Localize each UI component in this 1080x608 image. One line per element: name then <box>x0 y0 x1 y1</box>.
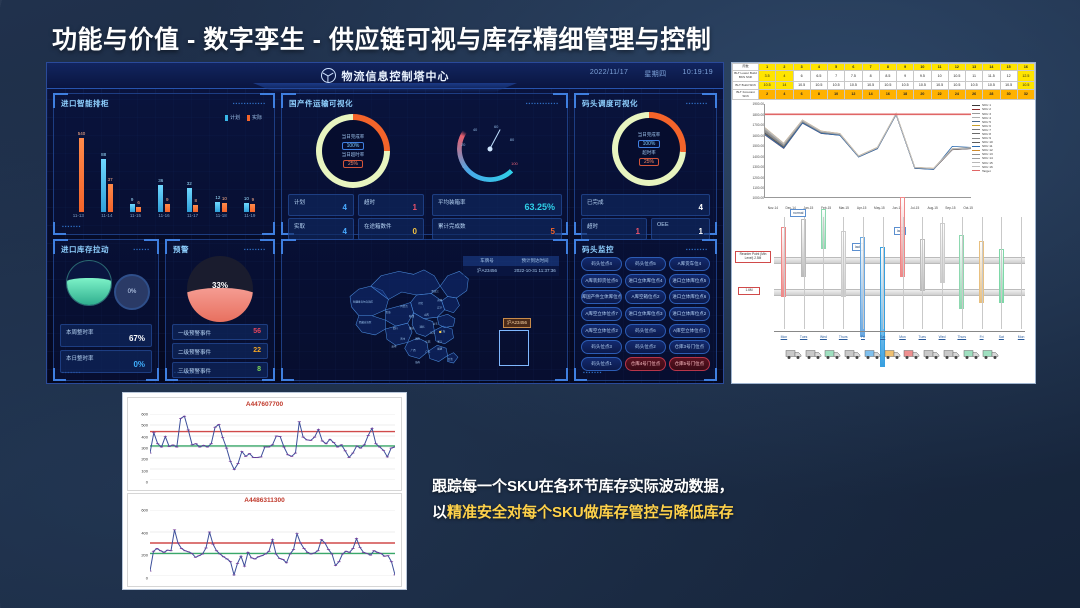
data-point <box>162 552 165 553</box>
table-row[interactable]: BLT Lower Build BKS Shift3.5466.577.588.… <box>733 71 1035 82</box>
sku-chart-title: A447607700 <box>128 398 401 408</box>
table-cell[interactable]: 11 <box>966 71 983 82</box>
kpi-dock-overtime[interactable]: 超时 1 <box>581 218 647 240</box>
panel-domestic-transport[interactable]: 国产件运输可视化 ▪▪▪▪▪▪▪▪▪▪▪▪ 当日完成率 100% 当日超时率 2… <box>281 93 568 235</box>
panel-title: 进口库存拉动 <box>61 244 109 255</box>
data-point <box>239 556 242 557</box>
panel-dock-monitor[interactable]: 码头监控 ▪▪▪▪▪▪▪▪ ▪▪▪▪▪▪▪ 码头位点4码头位点5A库货车位4A库… <box>574 239 717 381</box>
data-point <box>225 558 228 559</box>
alarm-pie-value: 33% <box>187 281 253 290</box>
data-point <box>194 557 197 558</box>
table-cell[interactable]: 6 <box>793 89 810 100</box>
table-cell[interactable]: 28 <box>983 89 1000 100</box>
row-header: BLT Build Shift <box>733 82 759 89</box>
legend-swatch <box>972 150 980 151</box>
data-point <box>278 436 281 437</box>
table-cell[interactable]: 6.5 <box>810 71 827 82</box>
data-point <box>285 562 288 563</box>
china-map-graphic: 新疆维吾尔自治区 西藏自治区 青海 内蒙古 河北 黑龙江 吉林 辽宁 陕西 山西 <box>326 261 495 372</box>
dock-button[interactable]: 进口立体库位点6 <box>669 290 710 304</box>
table-cell[interactable]: 8.5 <box>879 71 896 82</box>
map-zoom-box[interactable] <box>499 330 529 366</box>
table-cell[interactable]: 8 <box>862 71 879 82</box>
x-tick: Mar-15 <box>839 206 849 210</box>
sku-chart-1[interactable]: A447607700 6005004003002001000 <box>127 397 402 491</box>
svg-text:黑龙江: 黑龙江 <box>432 289 440 293</box>
data-point <box>278 558 281 559</box>
data-point <box>204 547 207 548</box>
data-point <box>180 548 183 549</box>
table-cell[interactable]: 16 <box>1017 64 1034 71</box>
y-tick: 1000.00 <box>734 196 764 200</box>
completion-ring-gauge: 当日完成率 100% 当日超时率 25% <box>316 114 390 188</box>
row-header: BLT Forecast Shift <box>733 89 759 100</box>
kpi-value: 1 <box>413 203 417 212</box>
stat-avg-loading-rate[interactable]: 平均装箱率 63.25% <box>432 194 562 216</box>
data-point <box>166 550 169 551</box>
table-cell[interactable]: 10.5 <box>948 71 965 82</box>
dock-button[interactable]: A库空立体位点7 <box>581 307 622 321</box>
table-cell[interactable]: 10.5 <box>983 82 1000 89</box>
dock-button[interactable]: 进口立体库位点5 <box>669 274 710 288</box>
day-label: Mon <box>781 335 788 339</box>
dock-button[interactable]: 码头位点5 <box>625 257 666 271</box>
data-point <box>374 443 377 444</box>
table-cell[interactable]: 4 <box>776 71 793 82</box>
x-tick: 11-13 <box>64 213 93 222</box>
table-cell[interactable]: 10.5 <box>810 82 827 89</box>
kpi-overtime[interactable]: 超时 1 <box>358 194 424 216</box>
panel-title: 进口智能排柜 <box>61 98 109 109</box>
table-cell[interactable]: 13 <box>966 64 983 71</box>
y-tick: 1800.00 <box>734 113 764 117</box>
table-row[interactable]: 沪A23456 2022-10-31 11:37:36 <box>463 266 559 276</box>
table-cell[interactable]: 11 <box>931 64 948 71</box>
legend-swatch <box>972 146 980 147</box>
data-point <box>321 440 324 441</box>
liquid-fill-gauge <box>66 260 112 306</box>
data-point <box>295 533 298 534</box>
caption-highlight: 精准安全对每个SKU做库存管控与降低库存 <box>447 504 734 521</box>
svg-text:浙江: 浙江 <box>437 339 443 343</box>
sku-line-series <box>150 416 395 469</box>
panel-title: 预警 <box>173 244 189 255</box>
line-series <box>765 114 971 169</box>
svg-text:海南: 海南 <box>415 360 421 364</box>
y-tick: 1200.00 <box>734 176 764 180</box>
data-point <box>169 550 172 551</box>
data-point <box>301 437 304 438</box>
dock-button[interactable]: A库装卸货位点6 <box>581 274 622 288</box>
table-cell[interactable]: 4 <box>810 64 827 71</box>
data-point <box>327 549 330 550</box>
data-point <box>355 445 358 446</box>
data-point <box>176 543 179 544</box>
data-point <box>363 444 366 445</box>
data-point <box>355 538 358 539</box>
table-cell[interactable]: 10.5 <box>1017 82 1034 89</box>
data-point <box>299 543 302 544</box>
dock-button[interactable]: A库空立体位点2 <box>581 324 622 338</box>
data-point <box>156 443 159 444</box>
kpi-label: 在途箱数件 <box>364 222 392 230</box>
data-point <box>255 457 258 458</box>
dock-button[interactable]: 仓库4号门位点 <box>625 357 666 371</box>
svg-text:广东: 广东 <box>426 349 432 353</box>
table-row[interactable]: 周数12345678910111213141516 <box>733 64 1035 71</box>
sku-chart-title: A4486311300 <box>128 494 401 504</box>
data-point <box>337 561 340 562</box>
y-tick: 600 <box>128 508 148 513</box>
data-point <box>302 548 305 549</box>
data-point <box>372 550 375 551</box>
table-cell[interactable]: 30 <box>1000 89 1017 100</box>
kpi-plan[interactable]: 计划 4 <box>288 194 354 216</box>
data-point <box>267 447 270 448</box>
data-point <box>198 447 201 448</box>
table-cell[interactable]: 7 <box>828 71 845 82</box>
svg-text:湖北: 湖北 <box>420 324 426 328</box>
table-cell[interactable]: 22 <box>931 89 948 100</box>
table-cell[interactable]: 14 <box>776 82 793 89</box>
data-point <box>382 450 385 451</box>
alarm-item-level1[interactable]: 一级预警事件 56 <box>172 324 268 340</box>
y-tick: 400 <box>128 434 148 439</box>
alarm-item-level2[interactable]: 二级预警事件 22 <box>172 343 268 359</box>
data-point <box>378 447 381 448</box>
table-cell[interactable]: 10.5 <box>845 82 862 89</box>
data-point <box>233 469 236 470</box>
sku-chart-2[interactable]: A4486311300 6004002000 <box>127 493 402 587</box>
speedometer-gauge: 0 20 40 60 80 100 <box>457 116 523 182</box>
alarm-label: 一级预警事件 <box>178 329 211 337</box>
data-point <box>348 552 351 553</box>
svg-text:江西: 江西 <box>426 339 432 343</box>
x-tick: May-15 <box>874 206 885 210</box>
data-point <box>328 439 331 440</box>
day-label: Thurs <box>957 335 966 339</box>
data-point <box>152 551 155 552</box>
stat-cumulative-count[interactable]: 累计完成数 5 <box>432 218 562 240</box>
data-point <box>358 547 361 548</box>
table-cell[interactable]: 9 <box>897 71 914 82</box>
y-tick: 200 <box>128 457 148 462</box>
data-point <box>274 554 277 555</box>
panel-deco-dots: ▪▪▪▪▪▪ <box>133 247 150 253</box>
map-vehicle-tag: 沪A23456 <box>503 318 531 328</box>
data-point <box>155 548 158 549</box>
dashboard-title: 物流信息控制塔中心 <box>342 68 450 84</box>
legend-actual: 实际 <box>252 114 262 121</box>
table-cell[interactable]: 10 <box>914 64 931 71</box>
table-row[interactable]: BLT Build Shift10.51410.510.510.510.510.… <box>733 82 1035 89</box>
data-point <box>218 554 221 555</box>
line-series <box>765 115 971 170</box>
table-cell[interactable]: 10.5 <box>948 82 965 89</box>
data-point <box>386 555 389 556</box>
svg-text:青海: 青海 <box>386 309 392 313</box>
svg-text:重庆: 重庆 <box>409 326 415 330</box>
svg-text:云南: 云南 <box>392 343 398 347</box>
stat-label: 累计完成数 <box>438 222 466 230</box>
data-point <box>243 566 246 567</box>
dock-button[interactable]: A库货车位4 <box>669 257 710 271</box>
panel-alarm[interactable]: 预警 ▪▪▪▪▪▪▪▪ ▪▪▪▪▪▪▪ 33% 一级预警事件 56 二级预警事件… <box>165 239 275 381</box>
table-cell[interactable]: 24 <box>948 89 965 100</box>
bar-chart-legend: 计划 实际 <box>225 114 262 121</box>
data-point <box>187 429 190 430</box>
truck-icon <box>943 347 960 361</box>
data-point <box>294 453 297 454</box>
data-point <box>340 444 343 445</box>
table-row[interactable]: BLT Forecast Shift2468101214161820222426… <box>733 89 1035 100</box>
data-point <box>213 427 216 428</box>
svg-text:陕西: 陕西 <box>409 314 415 318</box>
kpi-oee[interactable]: OEE 1 <box>651 218 710 240</box>
dock-button[interactable]: 进口立体库位点4 <box>625 274 666 288</box>
panel-deco-dots: ▪▪▪▪▪▪▪▪▪▪▪▪ <box>233 101 266 107</box>
dock-button[interactable]: 进口立体库位点3 <box>625 307 666 321</box>
table-cell[interactable]: 16 <box>879 89 896 100</box>
legend-swatch <box>972 121 980 122</box>
table-cell[interactable]: 1 <box>759 64 776 71</box>
dock-button[interactable]: 码头位点1 <box>581 357 622 371</box>
dock-button[interactable]: 码头位点4 <box>581 257 622 271</box>
data-point <box>330 554 333 555</box>
col-eta: 预计到达时间 <box>511 256 559 266</box>
table-cell[interactable]: 20 <box>914 89 931 100</box>
table-cell[interactable]: 8 <box>810 89 827 100</box>
x-tick: 11-17 <box>178 213 207 222</box>
donut-value: 0% <box>128 289 137 295</box>
table-cell[interactable]: 10 <box>828 89 845 100</box>
row-header: 周数 <box>733 64 759 71</box>
panel-title: 码头监控 <box>582 244 614 255</box>
table-cell[interactable]: 9 <box>897 64 914 71</box>
table-cell[interactable]: 10.5 <box>862 82 879 89</box>
table-cell[interactable]: 10.5 <box>914 82 931 89</box>
data-point <box>369 555 372 556</box>
logistics-dashboard: 物流信息控制塔中心 2022/11/17 星期四 10:19:19 进口智能排柜… <box>46 62 724 384</box>
table-cell[interactable]: 10.5 <box>1000 82 1017 89</box>
data-point <box>386 456 389 457</box>
data-point <box>225 448 228 449</box>
table-cell[interactable]: 26 <box>966 89 983 100</box>
svg-text:广西: 广西 <box>411 348 417 352</box>
kpi-actual[interactable]: 实取 4 <box>288 218 354 240</box>
inventory-analytics-block: 周数12345678910111213141516BLT Lower Build… <box>731 62 1036 384</box>
data-point <box>211 544 214 545</box>
table-cell[interactable]: 12 <box>948 64 965 71</box>
grid-line <box>863 217 864 329</box>
min-level-band <box>774 289 1025 296</box>
blt-shift-table[interactable]: 周数12345678910111213141516BLT Lower Build… <box>732 63 1035 100</box>
kpi-value: 4 <box>343 227 347 236</box>
table-cell[interactable]: 10.5 <box>759 82 776 89</box>
table-cell[interactable]: 14 <box>983 64 1000 71</box>
truck-icon <box>864 347 881 361</box>
table-cell[interactable]: 5 <box>828 64 845 71</box>
table-cell[interactable]: 3 <box>793 64 810 71</box>
data-point <box>259 456 262 457</box>
legend-swatch <box>972 154 980 155</box>
dock-button[interactable]: 码头位点3 <box>581 340 622 354</box>
dock-button[interactable]: 进口立体库位点2 <box>669 307 710 321</box>
legend-item: Target <box>972 169 1032 173</box>
table-cell[interactable]: 12.5 <box>1017 71 1034 82</box>
table-cell[interactable]: 18 <box>897 89 914 100</box>
panel-import-analysis[interactable]: 进口智能排柜 ▪▪▪▪▪▪▪▪▪▪▪▪ ▪▪▪▪▪▪▪ 计划 实际 540 88… <box>53 93 275 235</box>
data-point <box>150 453 152 454</box>
table-cell[interactable]: 12 <box>1000 71 1017 82</box>
table-cell[interactable]: 10.5 <box>897 82 914 89</box>
alarm-label: 三级预警事件 <box>178 367 211 375</box>
alarm-value: 56 <box>253 328 261 335</box>
table-cell[interactable]: 2 <box>776 64 793 71</box>
data-point <box>222 556 225 557</box>
data-point <box>379 553 382 554</box>
legend-swatch <box>972 129 980 130</box>
data-point <box>221 437 224 438</box>
data-point <box>286 454 289 455</box>
col-plate: 车牌号 <box>463 256 511 266</box>
kpi-in-transit[interactable]: 在途箱数件 0 <box>358 218 424 240</box>
x-tick: Nov-14 <box>768 206 778 210</box>
panel-import-inventory[interactable]: 进口库存拉动 ▪▪▪▪▪▪ ▪▪▪▪▪▪▪ 0% 本周整时率 67% 本日整时率 <box>53 239 159 381</box>
table-cell[interactable]: 6 <box>793 71 810 82</box>
y-tick: 1700.00 <box>734 123 764 127</box>
data-point <box>344 450 347 451</box>
day-label: Fri <box>861 335 865 339</box>
legend-swatch <box>972 113 980 114</box>
day-label: Sat <box>999 335 1004 339</box>
data-point <box>190 553 193 554</box>
data-point <box>263 447 266 448</box>
grid-line <box>942 217 943 329</box>
kpi-value: 1 <box>636 227 640 236</box>
panel-title: 国产件运输可视化 <box>289 98 353 109</box>
data-point <box>389 448 392 449</box>
x-tick: Apr-15 <box>857 206 867 210</box>
x-tick: Jul-15 <box>911 206 920 210</box>
data-point <box>183 550 186 551</box>
legend-swatch <box>972 105 980 106</box>
day-label: Sat <box>880 335 885 339</box>
table-cell[interactable]: 10.5 <box>966 82 983 89</box>
svg-text:新疆维吾尔自治区: 新疆维吾尔自治区 <box>353 299 374 303</box>
x-tick: 11-14 <box>93 213 122 222</box>
table-cell[interactable]: 10 <box>931 71 948 82</box>
dock-button[interactable]: 仓库3号门位点 <box>669 340 710 354</box>
table-cell[interactable]: 32 <box>1017 89 1034 100</box>
x-tick: 11-15 <box>121 213 150 222</box>
data-point <box>336 447 339 448</box>
table-cell[interactable]: 12 <box>845 89 862 100</box>
table-cell[interactable]: 11.5 <box>983 71 1000 82</box>
table-cell[interactable]: 8 <box>879 64 896 71</box>
dock-button[interactable]: 仓库5号门位点 <box>669 357 710 371</box>
table-cell[interactable]: 7 <box>862 64 879 71</box>
table-cell[interactable]: 3.5 <box>759 71 776 82</box>
table-cell[interactable]: 14 <box>862 89 879 100</box>
truck-icon <box>924 347 941 361</box>
svg-text:四川: 四川 <box>393 327 399 330</box>
data-point <box>341 554 344 555</box>
data-point <box>323 543 326 544</box>
truck-icon <box>884 347 901 361</box>
panel-china-map[interactable]: 新疆维吾尔自治区 西藏自治区 青海 内蒙古 河北 黑龙江 吉林 辽宁 陕西 山西 <box>281 239 568 381</box>
y-tick: 1300.00 <box>734 165 764 169</box>
kpi-completed[interactable]: 已完成 4 <box>581 194 710 216</box>
page-title: 功能与价值 - 数字孪生 - 供应链可视与库存精细管理与控制 <box>52 20 711 56</box>
data-point <box>171 445 174 446</box>
data-point <box>236 463 239 464</box>
kpi-label: 实取 <box>294 222 305 230</box>
data-point <box>164 436 167 437</box>
data-point <box>197 555 200 556</box>
line-series <box>765 114 971 169</box>
data-point <box>390 561 393 562</box>
ring-top-label: 当日完成率 <box>342 134 365 140</box>
grid-line <box>922 217 923 329</box>
day-label: Wed <box>939 335 946 339</box>
kpi-day-ontime[interactable]: 本日整时率 0% <box>60 350 152 373</box>
svg-text:福建: 福建 <box>437 346 443 350</box>
data-point <box>344 551 347 552</box>
table-cell[interactable]: 2 <box>759 89 776 100</box>
table-cell[interactable]: 10.5 <box>828 82 845 89</box>
table-cell[interactable]: 10.5 <box>879 82 896 89</box>
kpi-week-ontime[interactable]: 本周整时率 67% <box>60 324 152 347</box>
caption-block: 跟踪每一个SKU在各环节库存实际波动数据， 以精准安全对每个SKU做库存管控与降… <box>432 474 1032 527</box>
day-label: Thurs <box>839 335 848 339</box>
clock-weekday: 星期四 <box>644 69 666 79</box>
dock-button[interactable]: 码头位点2 <box>625 340 666 354</box>
alarm-pie-chart: 33% <box>187 256 253 322</box>
kpi-label: 本周整时率 <box>66 328 94 336</box>
table-cell[interactable]: 4 <box>776 89 793 100</box>
table-cell[interactable]: 10.5 <box>931 82 948 89</box>
svg-text:山西: 山西 <box>424 312 430 316</box>
kpi-label: 超时 <box>587 222 598 230</box>
alarm-item-level3[interactable]: 三级预警事件 8 <box>172 362 268 378</box>
grid-line <box>843 217 844 329</box>
table-cell[interactable]: 9.5 <box>914 71 931 82</box>
kpi-value: 4 <box>699 203 703 212</box>
data-point <box>190 444 193 445</box>
dock-button[interactable]: A库空立体位点1 <box>669 324 710 338</box>
dashboard-clock: 2022/11/17 星期四 10:19:19 <box>590 69 713 79</box>
table-cell[interactable]: 10.5 <box>793 82 810 89</box>
ring-bottom-value: 25% <box>639 158 659 166</box>
table-cell[interactable]: 6 <box>845 64 862 71</box>
panel-dock-schedule[interactable]: 码头调度可视化 ▪▪▪▪▪▪▪▪ 当日完成率 100% 超时率 25% 已完成 <box>574 93 717 235</box>
grid-line <box>962 217 963 329</box>
arrival-table: 车牌号 预计到达时间 沪A23456 2022-10-31 11:37:36 <box>463 256 559 276</box>
kpi-label: 计划 <box>294 198 305 206</box>
table-cell[interactable]: 15 <box>1000 64 1017 71</box>
kpi-value: 67% <box>129 334 145 343</box>
data-point <box>246 552 249 553</box>
data-point <box>306 552 309 553</box>
ring-bottom-label: 当日超时率 <box>342 152 365 158</box>
dock-button[interactable]: A库国产件立体库位点6 <box>581 290 622 304</box>
grid-line <box>1021 217 1022 329</box>
dock-button[interactable]: A库空箱位点2 <box>625 290 666 304</box>
clock-date: 2022/11/17 <box>590 69 629 79</box>
dock-button[interactable]: 码头位点6 <box>625 324 666 338</box>
table-cell[interactable]: 7.5 <box>845 71 862 82</box>
